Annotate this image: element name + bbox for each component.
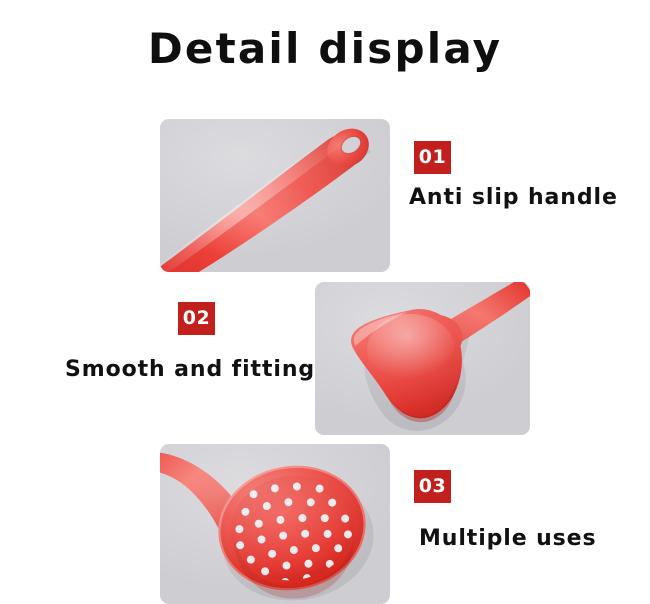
feature-photo-smooth-and-fitting: [315, 282, 530, 435]
handle-highlight: [160, 136, 341, 272]
feature-photo-multiple-uses: [160, 444, 390, 604]
feature-number-badge-02: 02: [178, 302, 215, 335]
page-title: Detail display: [0, 26, 650, 72]
silicone-handle-illustration: [160, 119, 390, 272]
silicone-spatula-illustration: [315, 282, 530, 435]
silicone-skimmer-illustration: [160, 444, 390, 604]
feature-number-badge-01: 01: [414, 141, 451, 174]
feature-caption-02: Smooth and fitting: [65, 358, 315, 382]
feature-photo-anti-slip-handle: [160, 119, 390, 272]
feature-caption-03: Multiple uses: [419, 527, 597, 551]
feature-caption-01: Anti slip handle: [409, 186, 618, 210]
feature-number-badge-03: 03: [414, 470, 451, 503]
